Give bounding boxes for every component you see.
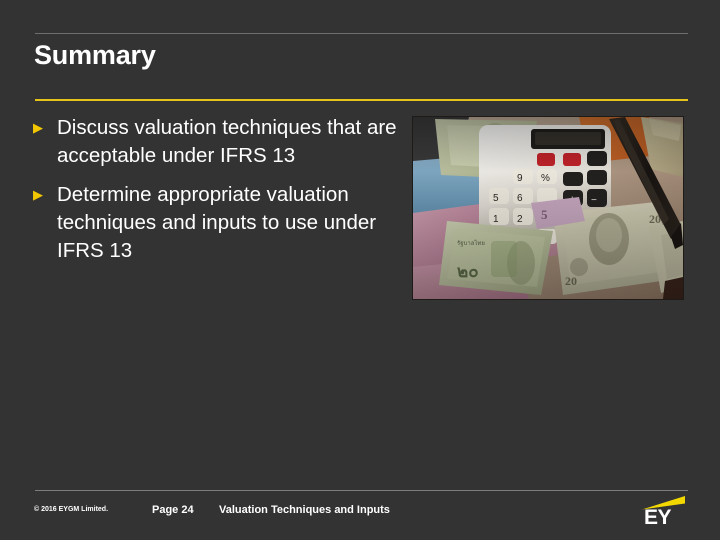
- triangle-bullet-icon: ▶: [33, 181, 57, 201]
- list-item-text: Discuss valuation techniques that are ac…: [57, 114, 403, 170]
- ey-logo: EY: [636, 496, 692, 530]
- copyright-text: © 2016 EYGM Limited.: [34, 506, 108, 513]
- currency-calculator-photo: 20: [412, 116, 684, 300]
- photo-artwork: 20: [413, 117, 683, 299]
- page-number: Page 24: [152, 504, 194, 516]
- list-item: ▶ Discuss valuation techniques that are …: [33, 114, 403, 170]
- footer-divider: [35, 490, 688, 491]
- list-item-text: Determine appropriate valuation techniqu…: [57, 181, 403, 265]
- triangle-bullet-icon: ▶: [33, 114, 57, 134]
- ey-wordmark: EY: [644, 507, 671, 529]
- page-title: Summary: [34, 38, 156, 72]
- presentation-slide: Summary ▶ Discuss valuation techniques t…: [0, 0, 720, 540]
- title-accent-divider: [35, 99, 688, 101]
- footer-subject-title: Valuation Techniques and Inputs: [219, 504, 390, 516]
- list-item: ▶ Determine appropriate valuation techni…: [33, 181, 403, 265]
- bullet-list: ▶ Discuss valuation techniques that are …: [33, 114, 403, 276]
- header-divider: [35, 33, 688, 34]
